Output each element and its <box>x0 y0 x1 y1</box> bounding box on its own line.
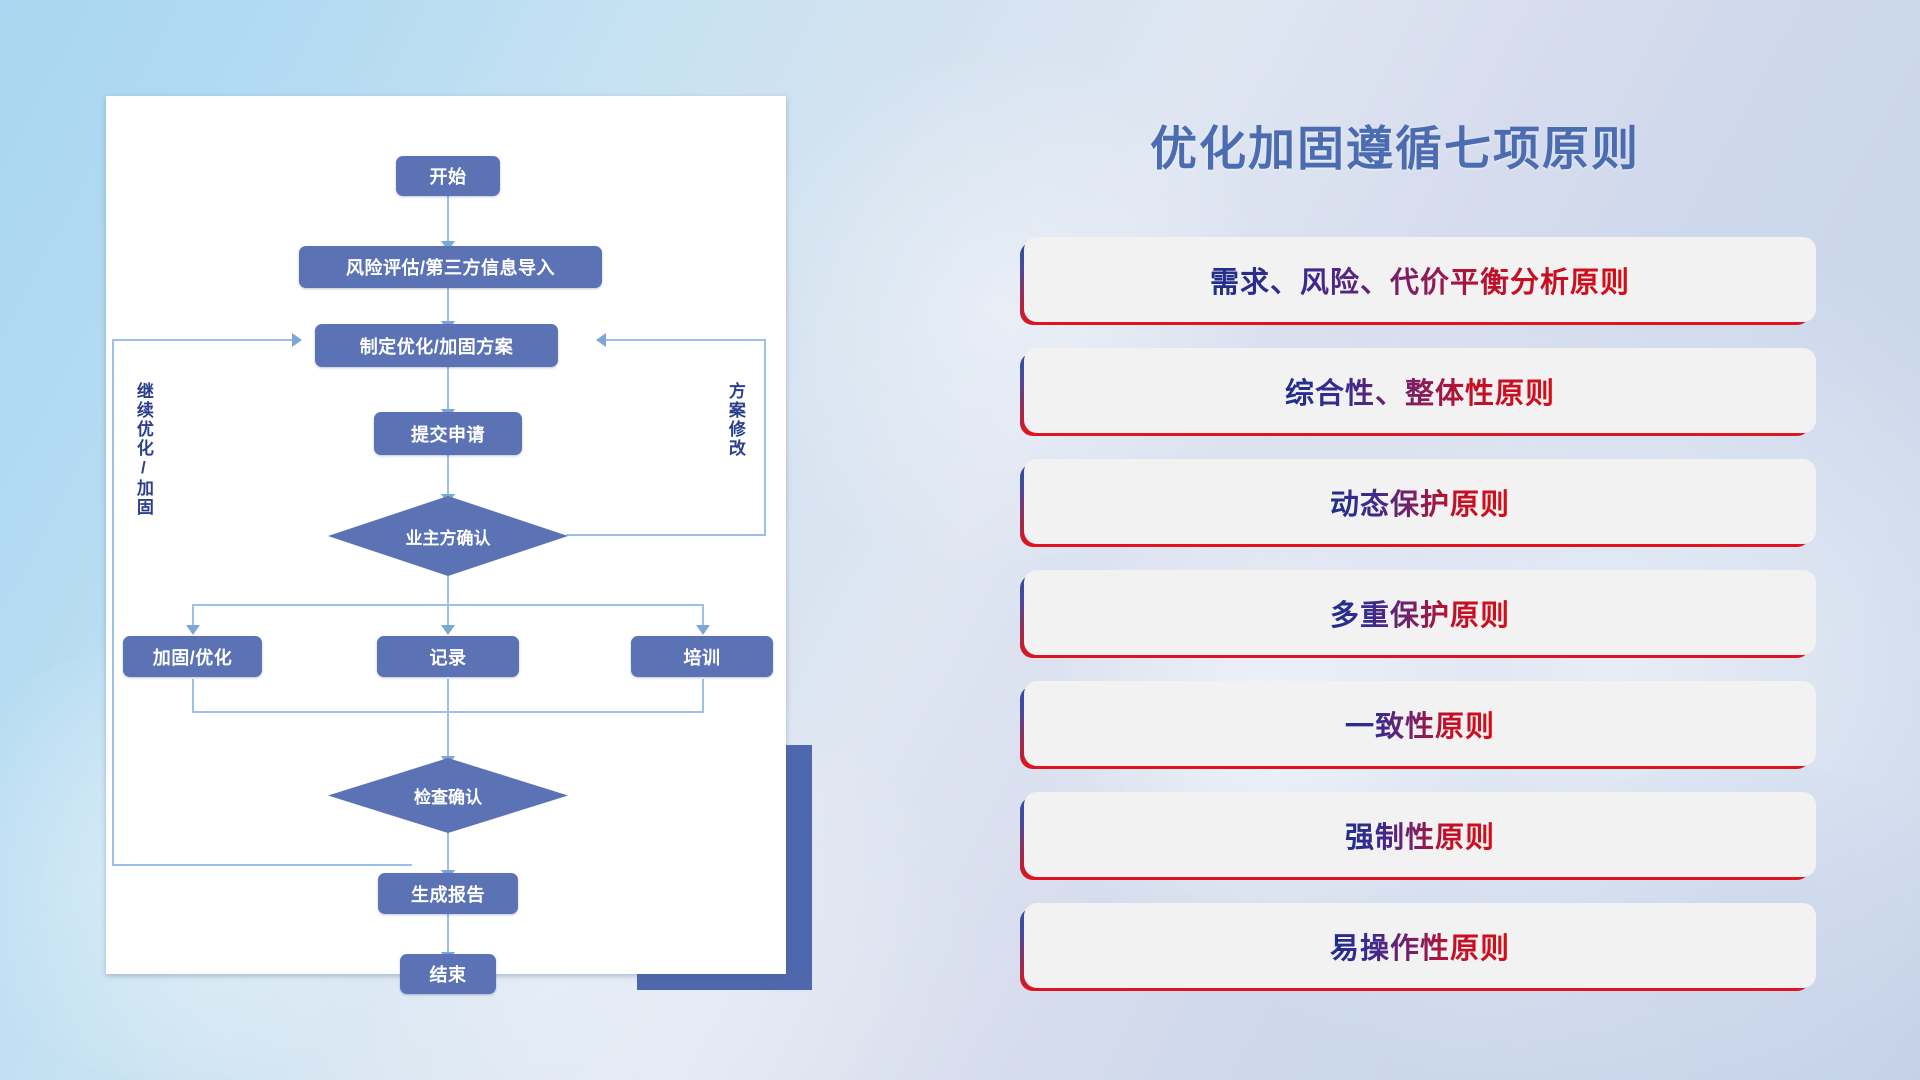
principle-card-face: 强制性原则 <box>1024 792 1816 877</box>
flow-node-reinforce[interactable]: 加固/优化 <box>123 636 262 677</box>
principle-card-face: 需求、风险、代价平衡分析原则 <box>1024 237 1816 322</box>
flow-node-owner-confirm[interactable]: 业主方确认 <box>328 496 568 576</box>
flow-node-record-label: 记录 <box>430 644 467 670</box>
flow-node-end[interactable]: 结束 <box>400 954 496 994</box>
flow-node-plan[interactable]: 制定优化/加固方案 <box>315 324 558 367</box>
principle-card-6-label: 强制性原则 <box>1345 814 1495 856</box>
conn-assess-plan <box>447 285 449 323</box>
loop-right-hline-top <box>606 339 766 341</box>
principle-card-face: 多重保护原则 <box>1024 570 1816 655</box>
conn-plan-submit <box>447 364 449 411</box>
branch-mid-drop <box>447 604 449 627</box>
branch-left-drop <box>192 604 194 627</box>
loop-label-right: 方案修改 <box>726 382 744 502</box>
principle-card-2-label: 综合性、整体性原则 <box>1285 370 1555 412</box>
flow-node-report-label: 生成报告 <box>411 881 485 907</box>
flow-node-training-label: 培训 <box>684 644 721 670</box>
branch-left-arrow <box>186 625 200 635</box>
principle-card-5[interactable]: 一致性原则 <box>1024 681 1814 764</box>
flow-node-record[interactable]: 记录 <box>377 636 519 677</box>
flow-node-start[interactable]: 开始 <box>396 156 500 196</box>
flow-node-start-label: 开始 <box>430 163 467 189</box>
flow-node-submit[interactable]: 提交申请 <box>374 412 522 455</box>
flow-node-end-label: 结束 <box>430 961 467 987</box>
flow-node-risk-assessment-label: 风险评估/第三方信息导入 <box>346 254 555 280</box>
flow-node-reinforce-label: 加固/优化 <box>153 644 233 670</box>
flow-node-submit-label: 提交申请 <box>411 421 485 447</box>
conn-start-assess <box>447 192 449 243</box>
principle-card-face: 动态保护原则 <box>1024 459 1816 544</box>
conn-check-report <box>447 831 449 872</box>
flow-node-report[interactable]: 生成报告 <box>378 873 518 914</box>
principle-card-6[interactable]: 强制性原则 <box>1024 792 1814 875</box>
loop-right-vline <box>764 339 766 536</box>
loop-left-vline <box>112 339 114 866</box>
flow-node-check-confirm-label: 检查确认 <box>414 783 482 808</box>
principle-card-4[interactable]: 多重保护原则 <box>1024 570 1814 653</box>
principle-card-2[interactable]: 综合性、整体性原则 <box>1024 348 1814 431</box>
branch-mid-arrow <box>441 625 455 635</box>
merge-left-rise <box>192 679 194 713</box>
principle-card-5-label: 一致性原则 <box>1345 703 1495 745</box>
conn-submit-owner <box>447 452 449 496</box>
page-title: 优化加固遵循七项原则 <box>1150 110 1640 179</box>
slide-canvas: 开始 风险评估/第三方信息导入 制定优化/加固方案 提交申请 业主方确认 加固/… <box>0 0 1920 1080</box>
flow-node-owner-confirm-label: 业主方确认 <box>406 524 491 549</box>
conn-merge-check <box>447 679 449 758</box>
loop-left-hline-bottom <box>112 864 412 866</box>
principle-card-3-label: 动态保护原则 <box>1330 481 1510 523</box>
loop-right-arrow-into-plan <box>596 333 606 347</box>
loop-left-arrow-into-plan <box>292 333 302 347</box>
principle-card-1[interactable]: 需求、风险、代价平衡分析原则 <box>1024 237 1814 320</box>
principle-card-7[interactable]: 易操作性原则 <box>1024 903 1814 986</box>
flowchart-card: 开始 风险评估/第三方信息导入 制定优化/加固方案 提交申请 业主方确认 加固/… <box>106 96 786 974</box>
conn-owner-bus <box>447 573 449 606</box>
principle-card-face: 一致性原则 <box>1024 681 1816 766</box>
principle-card-7-label: 易操作性原则 <box>1330 925 1510 967</box>
flow-node-risk-assessment[interactable]: 风险评估/第三方信息导入 <box>299 246 602 288</box>
conn-report-end <box>447 914 449 954</box>
loop-right-hline-bottom <box>566 534 766 536</box>
flow-node-plan-label: 制定优化/加固方案 <box>360 333 514 359</box>
loop-left-hline-top <box>112 339 294 341</box>
branch-right-drop <box>702 604 704 627</box>
flow-node-check-confirm[interactable]: 检查确认 <box>328 758 568 833</box>
principle-card-face: 综合性、整体性原则 <box>1024 348 1816 433</box>
branch-right-arrow <box>696 625 710 635</box>
loop-label-left: 继续优化/加固 <box>134 382 152 542</box>
principle-card-face: 易操作性原则 <box>1024 903 1816 988</box>
flow-node-training[interactable]: 培训 <box>631 636 773 677</box>
merge-right-rise <box>702 679 704 713</box>
principle-card-4-label: 多重保护原则 <box>1330 592 1510 634</box>
principle-card-1-label: 需求、风险、代价平衡分析原则 <box>1210 259 1630 301</box>
principle-card-3[interactable]: 动态保护原则 <box>1024 459 1814 542</box>
